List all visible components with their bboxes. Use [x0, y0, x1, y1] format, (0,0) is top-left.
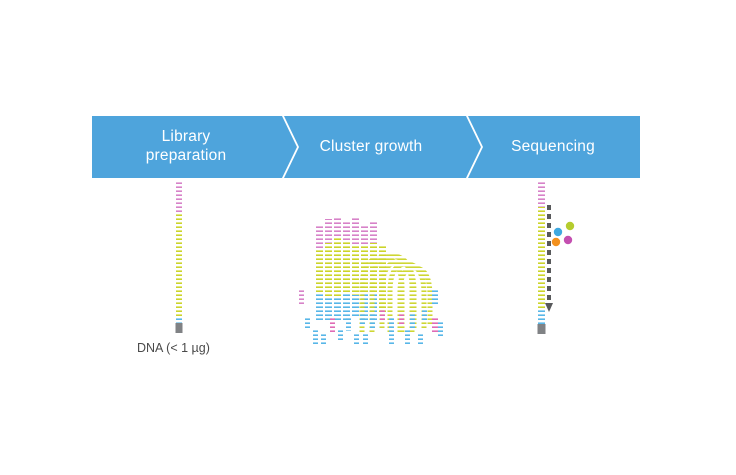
banner-label-sequencing: Sequencing	[466, 137, 640, 156]
banner-label-library-preparation: Library preparation	[92, 127, 280, 165]
diagram-canvas: Library preparation Cluster growth Seque…	[0, 0, 736, 475]
nucleotide-cyan-icon	[554, 228, 562, 236]
workflow-illustration	[0, 0, 736, 475]
nucleotide-green-icon	[566, 222, 574, 230]
banner-label-cluster-growth: Cluster growth	[282, 137, 460, 156]
nucleotide-magenta-icon	[564, 236, 572, 244]
nucleotide-orange-icon	[552, 238, 560, 246]
cluster-vertical-strands	[316, 216, 386, 322]
sequencing-template-strand	[538, 181, 545, 332]
caption-dna-amount: DNA (< 1 µg)	[137, 341, 210, 355]
cluster-free-fragments	[299, 288, 443, 346]
library-dna-fragment	[176, 180, 182, 334]
cluster-arch-tips	[360, 310, 427, 330]
cluster-bridge-arches	[362, 256, 430, 334]
sequencing-anchor-block	[538, 324, 546, 334]
library-anchor-block	[176, 323, 183, 333]
sequencing-nucleotides	[552, 222, 574, 246]
sequencing-read-strand	[545, 205, 553, 312]
